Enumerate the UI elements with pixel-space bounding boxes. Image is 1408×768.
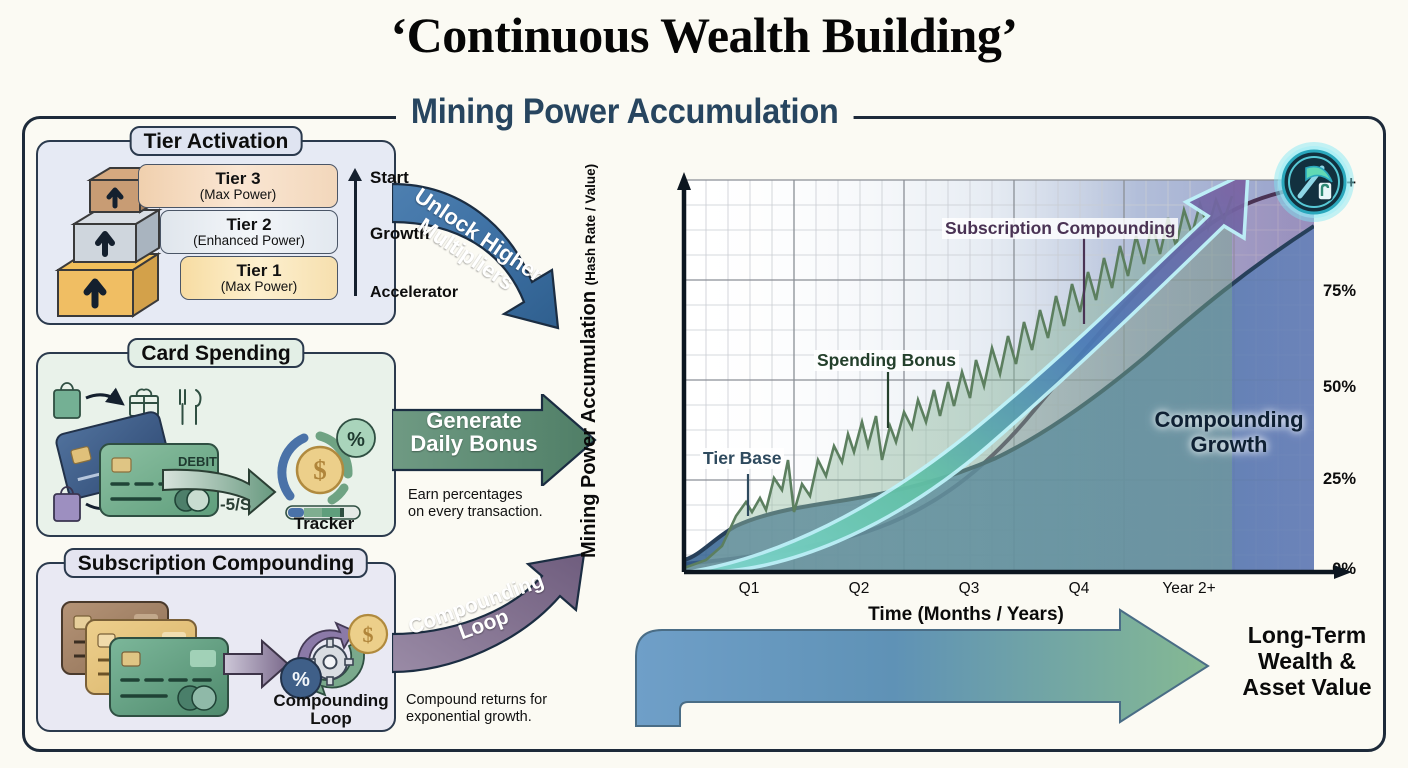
panel-subscription-title: Subscription Compounding — [64, 548, 368, 578]
card-spending-illustration: DEBIT -5/S — [38, 366, 394, 536]
annotation-subscription-compounding: Subscription Compounding — [942, 218, 1178, 239]
tier-3-name: Tier 3 — [215, 170, 260, 187]
annotation-tier-base: Tier Base — [700, 448, 784, 469]
panel-tier-activation[interactable]: Tier Activation — [36, 140, 396, 325]
tier-1-note: (Max Power) — [221, 280, 298, 294]
subscription-flow-arrow-icon — [224, 641, 288, 687]
shopping-bag-icon — [54, 383, 80, 418]
x-axis-arrow-icon — [1334, 565, 1352, 579]
tier-2-note: (Enhanced Power) — [193, 234, 305, 248]
compounding-loop-label: Compounding Loop — [270, 692, 392, 729]
caption-card-spending: Earn percentages on every transaction. — [408, 487, 543, 522]
xtick-q2: Q2 — [814, 580, 904, 598]
arrow-compounding-loop[interactable]: Compounding Loop — [392, 552, 592, 682]
annotation-compounding-growth: Compounding Growth — [1134, 408, 1324, 457]
cutlery-icon — [180, 390, 201, 424]
arrow-generate-daily-bonus[interactable]: Generate Daily Bonus — [392, 394, 597, 486]
panel-subscription-compounding[interactable]: Subscription Compounding — [36, 562, 396, 732]
rate-text: -5/S — [220, 495, 251, 514]
card-stack-icon — [62, 602, 228, 716]
frame-legend-title: Mining Power Accumulation — [396, 92, 853, 132]
page-title: ‘Continuous Wealth Building’ — [0, 6, 1408, 64]
svg-text:$: $ — [363, 622, 374, 647]
ladder-arrow-icon — [348, 168, 362, 181]
xtick-q4: Q4 — [1034, 580, 1124, 598]
pickaxe-icon[interactable] — [1270, 138, 1358, 226]
panel-card-spending[interactable]: Card Spending — [36, 352, 396, 537]
tracker-label: Tracker — [276, 514, 372, 534]
caption-subscription: Compound returns for exponential growth. — [406, 692, 547, 727]
xtick-q3: Q3 — [924, 580, 1014, 598]
svg-text:%: % — [292, 669, 310, 691]
annotation-spending-bonus: Spending Bonus — [814, 350, 959, 371]
ladder-axis-line — [354, 178, 357, 296]
svg-text:$: $ — [313, 455, 327, 485]
xtick-q1: Q1 — [704, 580, 794, 598]
tier-1-name: Tier 1 — [236, 262, 281, 279]
compounding-loop-icon: % $ — [281, 615, 387, 698]
tier-2-bar[interactable]: Tier 2 (Enhanced Power) — [160, 210, 338, 254]
long-term-outcome-arrow-icon — [628, 608, 1228, 728]
xtick-year2: Year 2+ — [1134, 580, 1244, 598]
tier-1-bar[interactable]: Tier 1 (Max Power) — [180, 256, 338, 300]
tier-2-name: Tier 2 — [226, 216, 271, 233]
outcome-label: Long-Term Wealth & Asset Value — [1222, 622, 1392, 701]
panel-card-title: Card Spending — [127, 338, 304, 368]
tier-3-note: (Max Power) — [200, 188, 277, 202]
tier-3-bar[interactable]: Tier 3 (Max Power) — [138, 164, 338, 208]
svg-text:%: % — [347, 429, 365, 451]
debit-card-text: DEBIT — [178, 454, 217, 469]
infographic-canvas: ‘Continuous Wealth Building’ Mining Powe… — [0, 0, 1408, 768]
mining-power-chart[interactable]: Mining Power Accumulation (Hash Rate / V… — [596, 160, 1356, 630]
tracker-gauge-icon: $ % — [282, 419, 375, 519]
